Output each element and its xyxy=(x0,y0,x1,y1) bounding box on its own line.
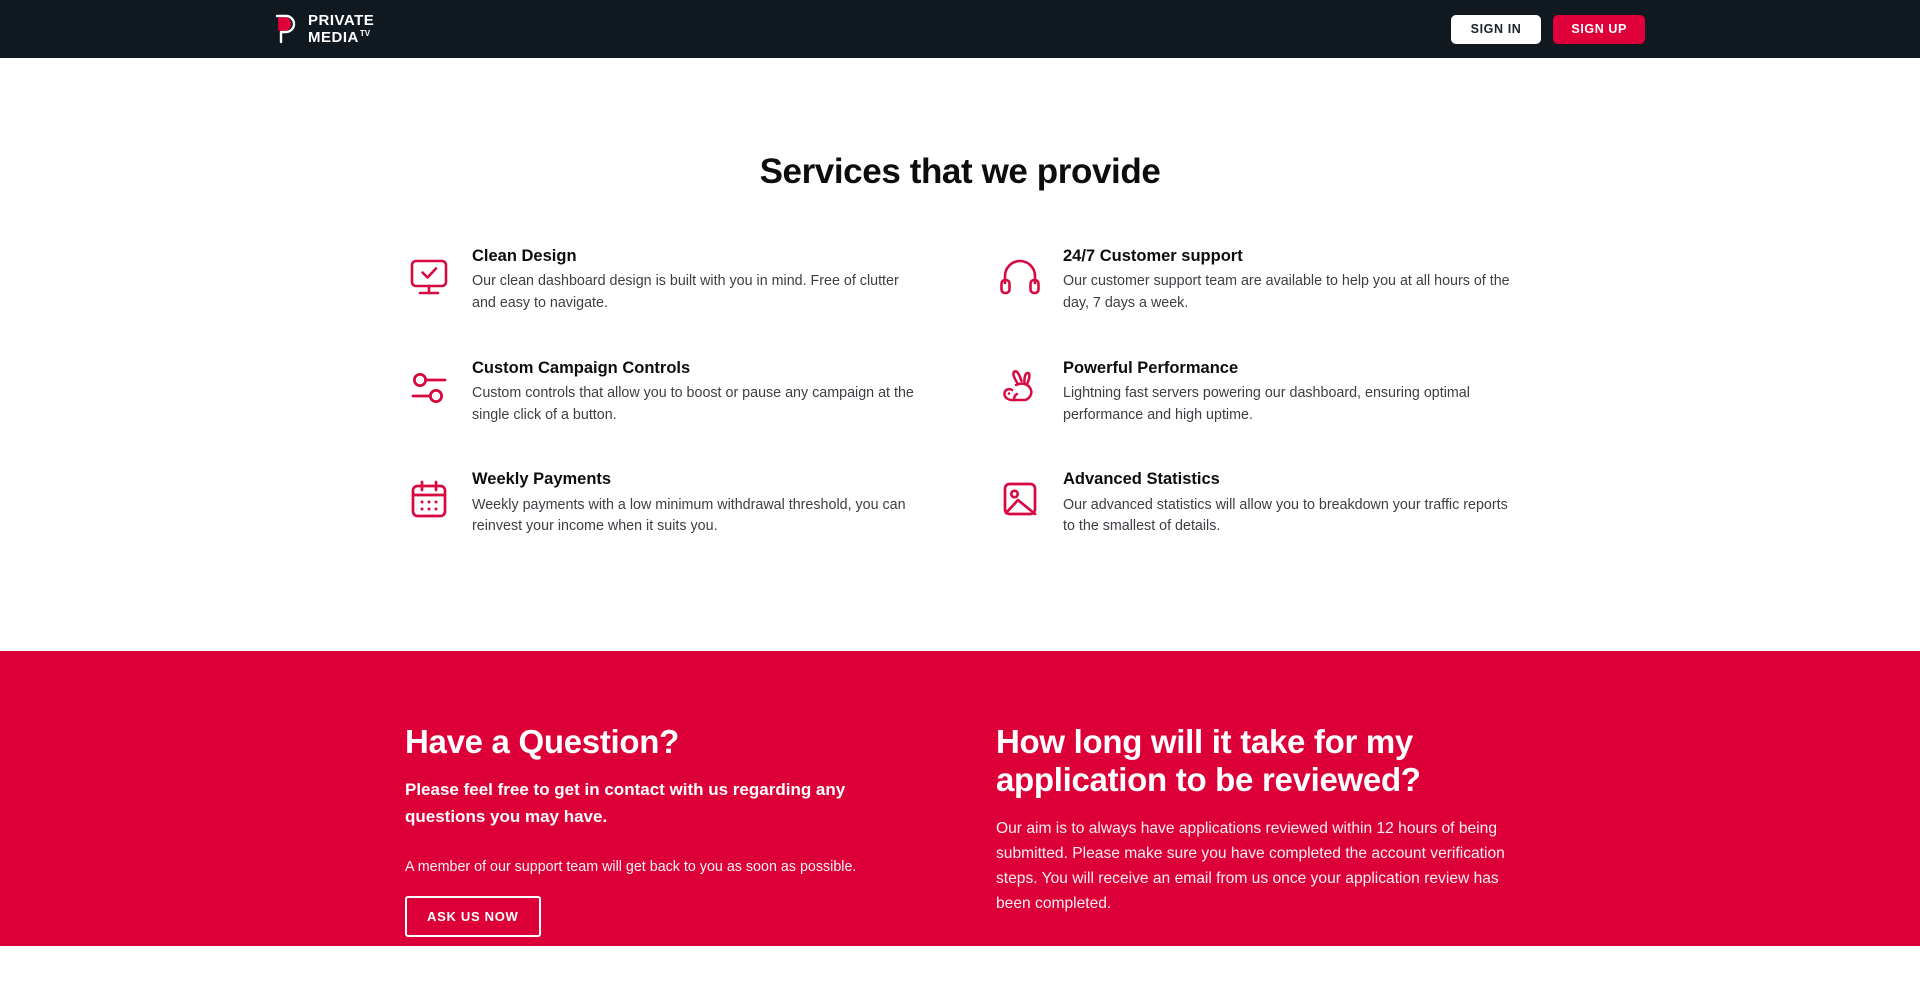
service-description: Weekly payments with a low minimum withd… xyxy=(472,495,924,538)
service-body: Custom Campaign Controls Custom controls… xyxy=(472,357,924,427)
sign-in-button[interactable]: SIGN IN xyxy=(1451,15,1542,44)
header-inner: PRIVATE MEDIA TV SIGN IN SIGN UP xyxy=(275,0,1645,58)
cta-left-column: Have a Question? Please feel free to get… xyxy=(405,723,924,937)
service-title: 24/7 Customer support xyxy=(1063,245,1515,267)
service-title: Custom Campaign Controls xyxy=(472,357,924,379)
private-media-p-logo-icon xyxy=(275,14,301,44)
service-description: Our clean dashboard design is built with… xyxy=(472,271,924,314)
brand-superscript-tv: TV xyxy=(360,30,370,38)
cta-right-heading: How long will it take for my application… xyxy=(996,723,1515,800)
service-body: 24/7 Customer support Our customer suppo… xyxy=(1063,245,1515,315)
image-icon xyxy=(996,475,1044,523)
cta-band: Have a Question? Please feel free to get… xyxy=(0,651,1920,946)
header-actions: SIGN IN SIGN UP xyxy=(1451,15,1645,44)
service-description: Lightning fast servers powering our dash… xyxy=(1063,383,1515,426)
cta-right-column: How long will it take for my application… xyxy=(996,723,1515,937)
brand-line-two: MEDIA TV xyxy=(308,30,374,45)
service-item-clean-design: Clean Design Our clean dashboard design … xyxy=(405,245,924,315)
calendar-icon xyxy=(405,475,453,523)
cta-left-lead: Please feel free to get in contact with … xyxy=(405,777,924,830)
brand-wordmark: PRIVATE MEDIA TV xyxy=(308,13,374,45)
service-description: Our customer support team are available … xyxy=(1063,271,1515,314)
service-item-advanced-statistics: Advanced Statistics Our advanced statist… xyxy=(996,468,1515,538)
ask-us-now-button[interactable]: ASK US NOW xyxy=(405,896,541,937)
sliders-icon xyxy=(405,364,453,412)
services-section: Services that we provide Clean Design Ou… xyxy=(0,58,1920,538)
service-description: Custom controls that allow you to boost … xyxy=(472,383,924,426)
brand-logo[interactable]: PRIVATE MEDIA TV xyxy=(275,13,374,45)
services-title: Services that we provide xyxy=(0,152,1920,192)
service-item-weekly-payments: Weekly Payments Weekly payments with a l… xyxy=(405,468,924,538)
service-description: Our advanced statistics will allow you t… xyxy=(1063,495,1515,538)
brand-line-two-text: MEDIA xyxy=(308,30,359,45)
service-title: Clean Design xyxy=(472,245,924,267)
brand-line-one: PRIVATE xyxy=(308,13,374,28)
monitor-check-icon xyxy=(405,252,453,300)
site-header: PRIVATE MEDIA TV SIGN IN SIGN UP xyxy=(0,0,1920,58)
service-title: Weekly Payments xyxy=(472,468,924,490)
service-item-campaign-controls: Custom Campaign Controls Custom controls… xyxy=(405,357,924,427)
cta-right-body: Our aim is to always have applications r… xyxy=(996,816,1515,917)
service-body: Advanced Statistics Our advanced statist… xyxy=(1063,468,1515,538)
sign-up-button[interactable]: SIGN UP xyxy=(1553,15,1645,44)
service-item-powerful-performance: Powerful Performance Lightning fast serv… xyxy=(996,357,1515,427)
service-title: Powerful Performance xyxy=(1063,357,1515,379)
cta-left-heading: Have a Question? xyxy=(405,723,924,761)
cta-inner: Have a Question? Please feel free to get… xyxy=(405,723,1515,937)
headphones-icon xyxy=(996,252,1044,300)
service-body: Weekly Payments Weekly payments with a l… xyxy=(472,468,924,538)
cta-left-sub: A member of our support team will get ba… xyxy=(405,856,924,878)
service-body: Clean Design Our clean dashboard design … xyxy=(472,245,924,315)
service-item-customer-support: 24/7 Customer support Our customer suppo… xyxy=(996,245,1515,315)
service-title: Advanced Statistics xyxy=(1063,468,1515,490)
rabbit-icon xyxy=(996,364,1044,412)
services-grid: Clean Design Our clean dashboard design … xyxy=(405,245,1515,538)
service-body: Powerful Performance Lightning fast serv… xyxy=(1063,357,1515,427)
